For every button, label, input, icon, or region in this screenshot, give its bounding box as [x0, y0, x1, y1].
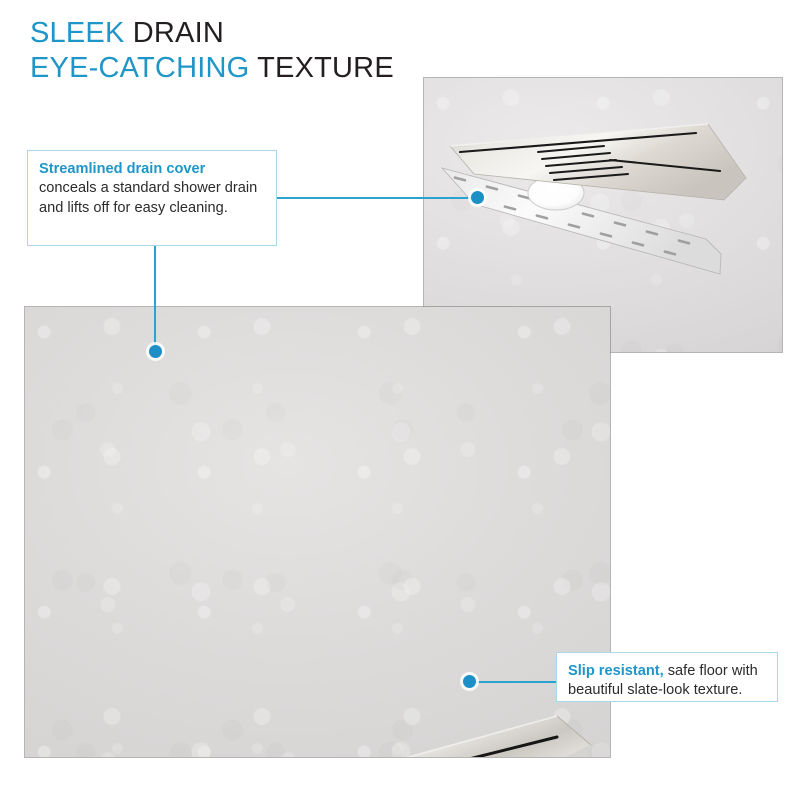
cover-center-slot-right: [610, 160, 720, 171]
cover-parallel-slot-group: [538, 146, 628, 180]
headline-line-1: SLEEK DRAIN: [30, 16, 394, 51]
drain-plate-bottom-highlight: [299, 745, 591, 757]
headline-plain-texture: TEXTURE: [249, 52, 393, 84]
leader-dot-icon-drain-cover: [471, 191, 484, 204]
leader-line-drain-cover-horizontal: [277, 197, 479, 199]
page-title: SLEEK DRAIN EYE-CATCHING TEXTURE: [30, 16, 394, 87]
callout-slip-resistant-heading: Slip resistant,: [568, 663, 664, 679]
headline-plain-drain: DRAIN: [125, 17, 225, 49]
leader-line-drain-cover-vertical: [154, 246, 156, 352]
callout-drain-cover-text: conceals a standard shower drain and lif…: [39, 180, 257, 215]
drain-cover-plate-installed: [73, 716, 591, 757]
callout-drain-cover-heading: Streamlined drain cover: [39, 161, 205, 177]
round-shower-drain: [528, 176, 584, 210]
callout-drain-cover: Streamlined drain cover conceals a stand…: [27, 150, 277, 246]
headline-line-2: EYE-CATCHING TEXTURE: [30, 51, 394, 86]
callout-slip-resistant: Slip resistant, safe floor with beautifu…: [556, 652, 778, 702]
cover-edge-highlight: [450, 124, 708, 146]
drain-plate-top-highlight: [73, 716, 557, 757]
installed-drain-cover-illustration: [67, 707, 597, 757]
drain-slot-center-right: [429, 737, 557, 757]
leader-line-slip-resistant-horizontal: [476, 681, 558, 683]
drain-channel-body: [442, 168, 721, 274]
channel-slot-group: [453, 176, 690, 256]
drain-plate-shadow: [75, 729, 567, 757]
panel-texture-overlay-large: [25, 307, 610, 757]
drain-cover-lifted-illustration: [438, 108, 760, 288]
shower-floor-photo-panel: [25, 307, 610, 757]
cover-center-slot-left: [460, 133, 696, 152]
headline-accent-sleek: SLEEK: [30, 17, 125, 49]
headline-accent-eye-catching: EYE-CATCHING: [30, 52, 249, 84]
leader-dot-icon-slip-resistant: [463, 675, 476, 688]
leader-dot-icon-floor-top: [149, 345, 162, 358]
drain-cover-plate-lifted: [450, 124, 746, 200]
